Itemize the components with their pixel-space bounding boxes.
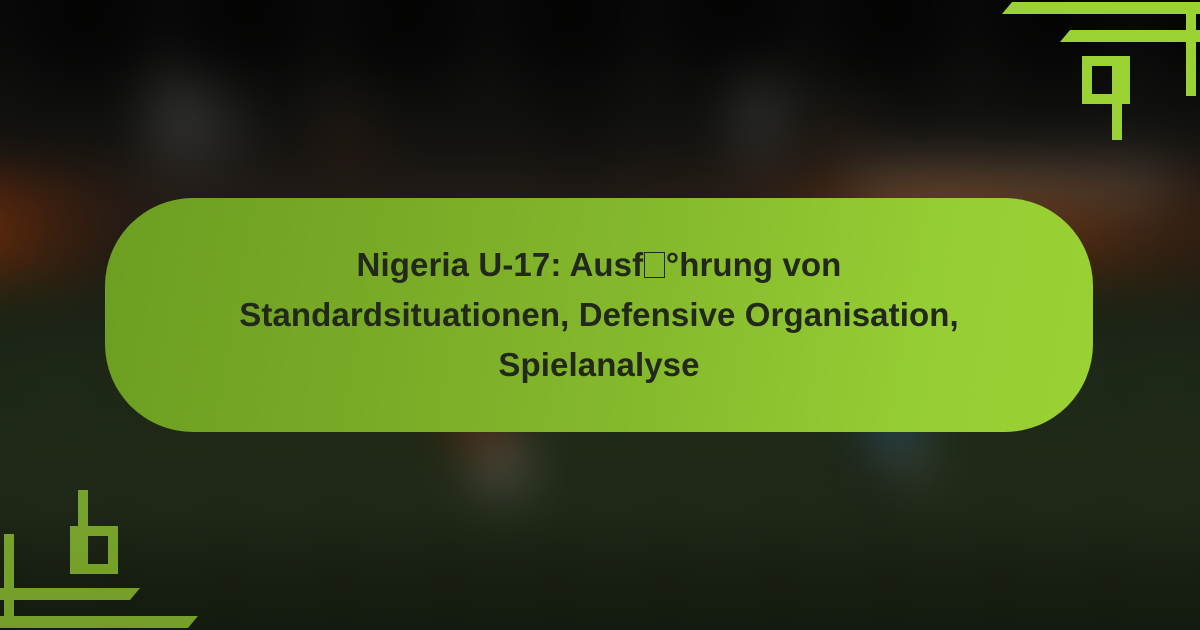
- missing-glyph-box-icon: [644, 252, 664, 278]
- page-title: Nigeria U-17: Ausf°hrung von Standardsit…: [199, 240, 999, 390]
- title-segment-before-glyph: Nigeria U-17: Ausf: [357, 246, 644, 283]
- title-badge: Nigeria U-17: Ausf°hrung von Standardsit…: [105, 198, 1093, 432]
- og-share-card: Nigeria U-17: Ausf°hrung von Standardsit…: [0, 0, 1200, 630]
